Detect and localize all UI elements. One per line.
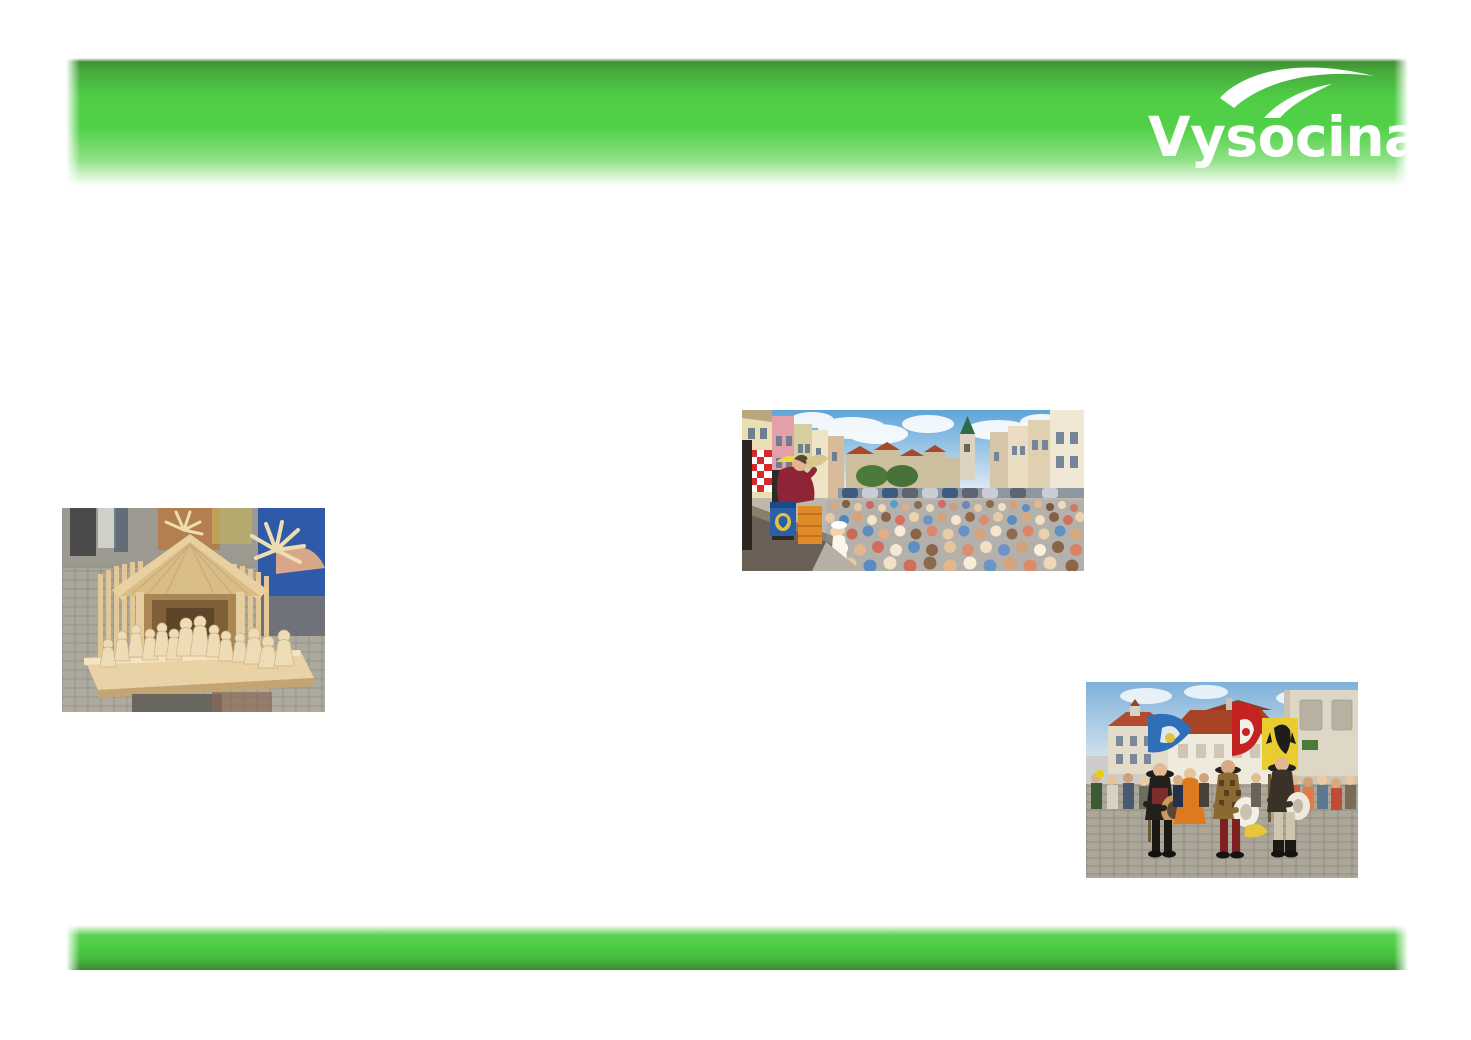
photo-town-square-crowd[interactable] — [742, 410, 1084, 571]
vysocina-wordmark: Vysocina — [1148, 104, 1388, 170]
footer-green-bar — [66, 925, 1408, 970]
photo-historical-parade[interactable] — [1086, 682, 1358, 878]
photo-nativity[interactable] — [62, 508, 325, 712]
vysocina-logo: Vysocina — [1148, 62, 1388, 174]
slide-canvas: Vysocina — [0, 0, 1471, 1040]
